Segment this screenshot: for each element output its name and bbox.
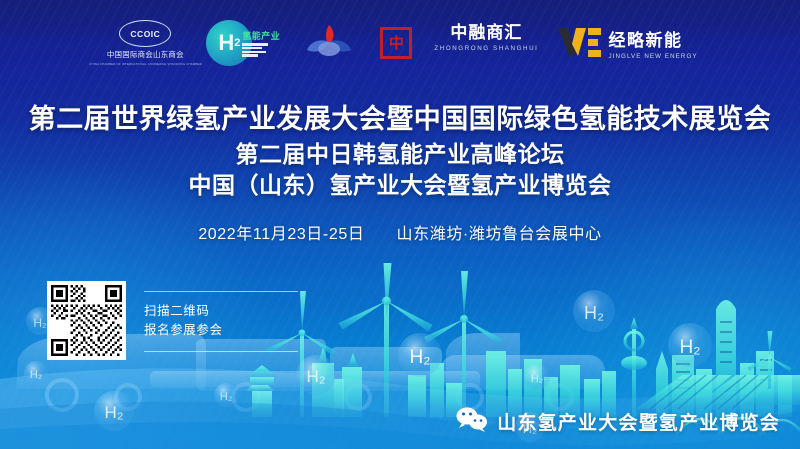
logo-swirl-group: [300, 18, 358, 68]
logo-jinglve-new-energy: 经略新能 JINGLVE NEW ENERGY: [556, 18, 697, 68]
logo-ccoic: CCOIC 中国国际商会山东商会 CHINA CHAMBER OF INTERN…: [102, 18, 188, 68]
h2-logo-text: 氢能产业: [242, 29, 280, 56]
wind-turbine: [424, 271, 502, 417]
svg-text:H₂: H₂: [584, 303, 604, 323]
ve-mark-icon: [556, 26, 602, 60]
wind-turbine: [748, 331, 792, 389]
svg-text:H₂: H₂: [33, 316, 47, 330]
svg-text:H₂: H₂: [220, 391, 232, 403]
h2-bars-icon: [242, 43, 280, 56]
logo-zhongrong-shanghui: 中融商汇 ZHONGRONG SHANGHUI: [434, 18, 538, 68]
qr-caption: 扫描二维码 报名参展参会: [144, 281, 304, 352]
logo-zhong-seal: 中: [376, 18, 416, 68]
zhongrong-en-label: ZHONGRONG SHANGHUI: [434, 45, 538, 52]
svg-text:H₂: H₂: [30, 369, 42, 381]
qr-rule-bottom: [144, 351, 298, 352]
ccoic-en-label: CHINA CHAMBER OF INTERNATIONAL COMMERCE …: [89, 62, 202, 66]
svg-text:H₂: H₂: [531, 373, 543, 385]
event-date: 2022年11月23日-25日: [198, 226, 364, 243]
qr-registration-block: 扫描二维码 报名参展参会: [47, 281, 304, 360]
landmark-tower: [716, 300, 736, 417]
event-date-venue: 2022年11月23日-25日 山东潍坊·潍坊鲁台会展中心: [0, 220, 800, 244]
sponsor-logo-bar: CCOIC 中国国际商会山东商会 CHINA CHAMBER OF INTERN…: [0, 18, 800, 68]
wind-turbine: [339, 263, 433, 417]
qr-code[interactable]: [47, 281, 126, 360]
qr-rule-top: [144, 291, 298, 292]
title-block: 第二届世界绿氢产业发展大会暨中国国际绿色氢能技术展览会 第二届中日韩氢能产业高峰…: [0, 104, 800, 244]
jinglve-en-label: JINGLVE NEW ENERGY: [608, 53, 697, 60]
logo-hydrogen-alliance: H2 氢能产业: [206, 18, 282, 68]
wechat-account-footer[interactable]: 山东氢产业大会暨氢产业博览会: [456, 406, 780, 437]
wechat-icon: [456, 406, 488, 437]
subtitle-expo: 中国（山东）氢产业大会暨氢产业博览会: [0, 172, 800, 200]
svg-text:H₂: H₂: [679, 337, 700, 358]
ccoic-emblem-icon: CCOIC: [119, 20, 171, 47]
zhong-seal-glyph: 中: [380, 27, 412, 59]
event-venue: 山东潍坊·潍坊鲁台会展中心: [397, 226, 602, 243]
tv-tower: [621, 317, 647, 417]
jinglve-text: 经略新能 JINGLVE NEW ENERGY: [608, 26, 697, 60]
solar-panel-array: [636, 331, 800, 409]
ccoic-cn-label: 中国国际商会山东商会: [107, 49, 184, 60]
qr-line-2: 报名参展参会: [144, 321, 304, 340]
zhongrong-cn-label: 中融商汇: [450, 18, 522, 43]
main-title: 第二届世界绿氢产业发展大会暨中国国际绿色氢能技术展览会: [0, 104, 800, 135]
jinglve-cn-label: 经略新能: [608, 26, 697, 51]
ccoic-emblem-text: CCOIC: [130, 29, 160, 39]
subtitle-forum: 第二届中日韩氢能产业高峰论坛: [0, 141, 800, 169]
h2-cn-label: 氢能产业: [242, 29, 280, 42]
svg-text:H₂: H₂: [307, 367, 326, 386]
city-skyline: [246, 263, 792, 417]
qr-line-1: 扫描二维码: [144, 302, 304, 321]
poster-canvas: CCOIC 中国国际商会山东商会 CHINA CHAMBER OF INTERN…: [0, 0, 800, 449]
swirl-icon: [304, 22, 354, 64]
svg-text:H₂: H₂: [409, 347, 430, 368]
wechat-account-name: 山东氢产业大会暨氢产业博览会: [497, 408, 780, 435]
svg-text:H₂: H₂: [105, 403, 124, 422]
